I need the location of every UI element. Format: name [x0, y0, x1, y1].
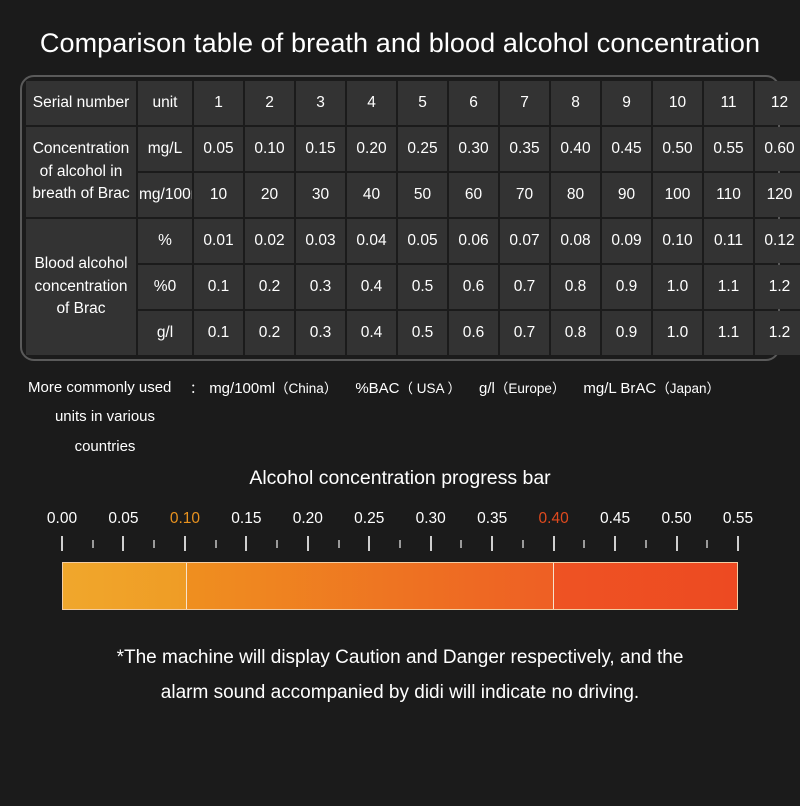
- units-note-line-2: units in various: [20, 402, 190, 431]
- cell-value: 60: [449, 173, 498, 217]
- axis-tick-major: [430, 536, 432, 551]
- axis-tick-major: [245, 536, 247, 551]
- row-unit-0: %0: [138, 265, 192, 309]
- axis-tick-label: 0.40: [539, 510, 569, 528]
- progress-bar-title: Alcohol concentration progress bar: [0, 467, 800, 490]
- axis-tick-label: 0.35: [477, 510, 507, 528]
- row-group-label-breath: Concentration of alcohol in breath of Br…: [26, 127, 136, 217]
- cell-value: 0.10: [653, 219, 702, 263]
- units-note-line-3: countries: [20, 432, 190, 461]
- cell-value: 0.05: [398, 219, 447, 263]
- axis-tick-marks: [62, 536, 738, 556]
- header-column-5: 5: [398, 81, 447, 125]
- cell-value: 50: [398, 173, 447, 217]
- axis-tick-minor: [276, 540, 278, 548]
- cell-value: 0.7: [500, 265, 549, 309]
- cell-value: 1.0: [653, 311, 702, 355]
- cell-value: 0.8: [551, 311, 600, 355]
- axis-tick-minor: [583, 540, 585, 548]
- cell-value: 0.2: [245, 265, 294, 309]
- cell-value: 70: [500, 173, 549, 217]
- footer-line-1: *The machine will display Caution and Da…: [60, 640, 740, 675]
- cell-value: 0.10: [245, 127, 294, 171]
- axis-tick-label: 0.15: [231, 510, 261, 528]
- page-title: Comparison table of breath and blood alc…: [0, 0, 800, 75]
- unit-region: （Europe）: [495, 381, 566, 396]
- axis-tick-minor: [215, 540, 217, 548]
- cell-value: 0.2: [245, 311, 294, 355]
- row-unit-: %: [138, 219, 192, 263]
- header-column-6: 6: [449, 81, 498, 125]
- cell-value: 0.5: [398, 311, 447, 355]
- header-column-12: 12: [755, 81, 800, 125]
- header-column-9: 9: [602, 81, 651, 125]
- cell-value: 0.50: [653, 127, 702, 171]
- progress-bar-segment-caution[interactable]: [186, 563, 554, 609]
- axis-tick-label: 0.20: [293, 510, 323, 528]
- axis-tick-minor: [706, 540, 708, 548]
- axis-tick-major: [122, 536, 124, 551]
- cell-value: 1.0: [653, 265, 702, 309]
- cell-value: 0.09: [602, 219, 651, 263]
- unit-region: （ USA ）: [400, 381, 462, 396]
- cell-value: 1.2: [755, 311, 800, 355]
- cell-value: 100: [653, 173, 702, 217]
- comparison-table-container: Serial numberunit123456789101112Concentr…: [20, 75, 780, 361]
- cell-value: 0.55: [704, 127, 753, 171]
- header-column-1: 1: [194, 81, 243, 125]
- unit-country-item: g/l（Europe）: [479, 380, 565, 397]
- cell-value: 0.04: [347, 219, 396, 263]
- cell-value: 0.05: [194, 127, 243, 171]
- cell-value: 1.2: [755, 265, 800, 309]
- cell-value: 0.40: [551, 127, 600, 171]
- cell-value: 0.08: [551, 219, 600, 263]
- unit-country-item: %BAC（ USA ）: [355, 380, 461, 397]
- unit-region: （Japan）: [656, 381, 720, 396]
- axis-tick-label: 0.30: [416, 510, 446, 528]
- axis-tick-labels: 0.000.050.100.150.200.250.300.350.400.45…: [62, 510, 738, 532]
- cell-value: 0.35: [500, 127, 549, 171]
- cell-value: 1.1: [704, 311, 753, 355]
- axis-tick-label: 0.55: [723, 510, 753, 528]
- axis-tick-major: [368, 536, 370, 551]
- table-body: Serial numberunit123456789101112Concentr…: [26, 81, 800, 355]
- unit-name: mg/100ml: [209, 380, 275, 397]
- axis-tick-minor: [399, 540, 401, 548]
- comparison-table: Serial numberunit123456789101112Concentr…: [24, 79, 800, 357]
- header-column-4: 4: [347, 81, 396, 125]
- cell-value: 0.15: [296, 127, 345, 171]
- axis-tick-minor: [522, 540, 524, 548]
- cell-value: 80: [551, 173, 600, 217]
- axis-tick-major: [676, 536, 678, 551]
- cell-value: 0.5: [398, 265, 447, 309]
- axis-tick-label: 0.00: [47, 510, 77, 528]
- unit-name: mg/L BrAC: [583, 380, 656, 397]
- units-note: More commonly used units in various coun…: [20, 373, 780, 461]
- axis-tick-major: [184, 536, 186, 551]
- unit-region: （China）: [275, 381, 337, 396]
- axis-tick-major: [61, 536, 63, 551]
- header-column-7: 7: [500, 81, 549, 125]
- axis-tick-minor: [153, 540, 155, 548]
- units-note-colon: ：: [190, 381, 205, 396]
- row-group-label-blood: Blood alcohol concentration of Brac: [26, 219, 136, 355]
- table-row: %00.10.20.30.40.50.60.70.80.91.01.11.2: [26, 265, 800, 309]
- row-unit-mgL: mg/L: [138, 127, 192, 171]
- table-row: g/l0.10.20.30.40.50.60.70.80.91.01.11.2: [26, 311, 800, 355]
- cell-value: 0.12: [755, 219, 800, 263]
- cell-value: 40: [347, 173, 396, 217]
- table-row: Blood alcohol concentration of Brac%0.01…: [26, 219, 800, 263]
- cell-value: 0.07: [500, 219, 549, 263]
- axis-tick-major: [737, 536, 739, 551]
- axis-tick-minor: [645, 540, 647, 548]
- axis-tick-label: 0.45: [600, 510, 630, 528]
- cell-value: 0.6: [449, 311, 498, 355]
- header-column-10: 10: [653, 81, 702, 125]
- cell-value: 0.4: [347, 265, 396, 309]
- cell-value: 0.11: [704, 219, 753, 263]
- cell-value: 0.9: [602, 311, 651, 355]
- cell-value: 0.20: [347, 127, 396, 171]
- table-row: Concentration of alcohol in breath of Br…: [26, 127, 800, 171]
- cell-value: 10: [194, 173, 243, 217]
- cell-value: 0.03: [296, 219, 345, 263]
- axis-tick-label: 0.10: [170, 510, 200, 528]
- cell-value: 120: [755, 173, 800, 217]
- unit-country-item: mg/L BrAC（Japan）: [583, 380, 720, 397]
- axis-tick-major: [614, 536, 616, 551]
- footer-note: *The machine will display Caution and Da…: [0, 640, 800, 710]
- cell-value: 110: [704, 173, 753, 217]
- cell-value: 0.30: [449, 127, 498, 171]
- cell-value: 0.1: [194, 265, 243, 309]
- unit-name: %BAC: [355, 380, 399, 397]
- cell-value: 90: [602, 173, 651, 217]
- header-unit: unit: [138, 81, 192, 125]
- cell-value: 0.45: [602, 127, 651, 171]
- cell-value: 0.4: [347, 311, 396, 355]
- units-note-line-1: More commonly used: [20, 373, 190, 402]
- units-note-values: ： mg/100ml（China）%BAC（ USA ）g/l（Europe）m…: [190, 373, 780, 397]
- cell-value: 0.3: [296, 311, 345, 355]
- axis-tick-minor: [92, 540, 94, 548]
- axis-tick-minor: [460, 540, 462, 548]
- cell-value: 0.01: [194, 219, 243, 263]
- footer-line-2: alarm sound accompanied by didi will ind…: [60, 675, 740, 710]
- progress-bar-track[interactable]: [62, 562, 738, 610]
- axis-tick-major: [553, 536, 555, 551]
- cell-value: 30: [296, 173, 345, 217]
- header-column-2: 2: [245, 81, 294, 125]
- header-column-8: 8: [551, 81, 600, 125]
- progress-bar-segment-safe[interactable]: [63, 563, 186, 609]
- cell-value: 0.02: [245, 219, 294, 263]
- cell-value: 0.6: [449, 265, 498, 309]
- cell-value: 0.7: [500, 311, 549, 355]
- unit-country-item: mg/100ml（China）: [209, 380, 337, 397]
- unit-name: g/l: [479, 380, 495, 397]
- cell-value: 1.1: [704, 265, 753, 309]
- cell-value: 0.8: [551, 265, 600, 309]
- axis-tick-label: 0.50: [661, 510, 691, 528]
- table-header-row: Serial numberunit123456789101112: [26, 81, 800, 125]
- axis-tick-label: 0.05: [108, 510, 138, 528]
- progress-bar-segment-danger[interactable]: [553, 563, 737, 609]
- axis-tick-minor: [338, 540, 340, 548]
- axis-tick-major: [307, 536, 309, 551]
- header-column-11: 11: [704, 81, 753, 125]
- header-serial-number: Serial number: [26, 81, 136, 125]
- cell-value: 0.06: [449, 219, 498, 263]
- axis-tick-label: 0.25: [354, 510, 384, 528]
- table-row: mg/100ml102030405060708090100110120: [26, 173, 800, 217]
- header-column-3: 3: [296, 81, 345, 125]
- cell-value: 0.1: [194, 311, 243, 355]
- axis-tick-major: [491, 536, 493, 551]
- cell-value: 0.3: [296, 265, 345, 309]
- cell-value: 0.60: [755, 127, 800, 171]
- cell-value: 0.25: [398, 127, 447, 171]
- cell-value: 20: [245, 173, 294, 217]
- row-unit-gl: g/l: [138, 311, 192, 355]
- row-unit-mg100ml: mg/100ml: [138, 173, 192, 217]
- progress-bar-area: 0.000.050.100.150.200.250.300.350.400.45…: [62, 510, 738, 610]
- cell-value: 0.9: [602, 265, 651, 309]
- units-note-label: More commonly used units in various coun…: [20, 373, 190, 461]
